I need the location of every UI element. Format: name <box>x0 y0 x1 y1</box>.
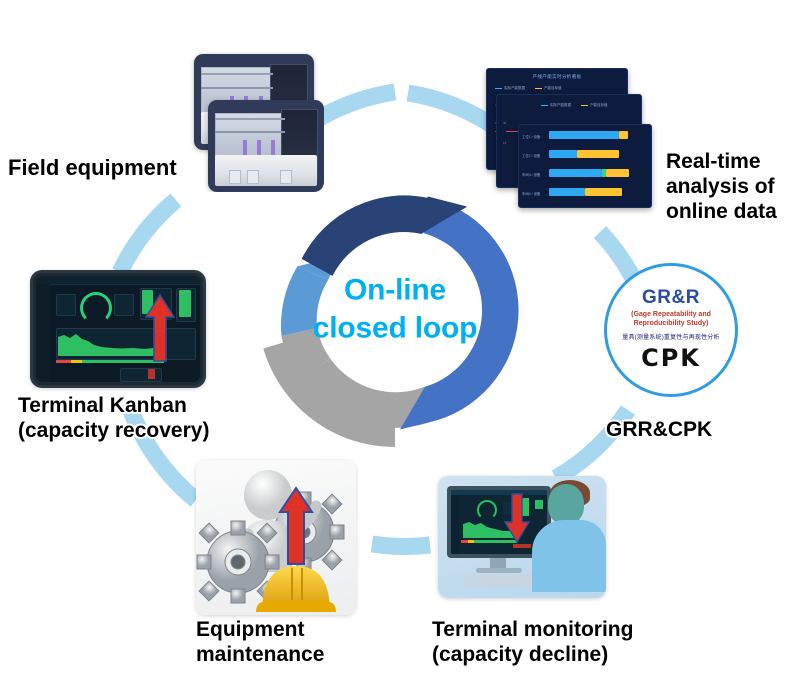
bar-legend-mid: 实际产能数据 <box>541 103 571 108</box>
label-line: Real-time <box>666 150 800 175</box>
diagram-canvas: On-line closed loop <box>0 0 800 684</box>
person-head <box>548 484 584 524</box>
arc-bottom <box>372 544 430 546</box>
label-field-equipment: Field equipment <box>8 155 177 181</box>
hard-hat-icon <box>256 566 336 612</box>
field-equipment-image[interactable] <box>184 52 324 192</box>
bar-row-label-2: 车间3 / 设备 <box>522 172 540 177</box>
label-line: Field equipment <box>8 155 177 181</box>
kanban-waveform <box>58 332 154 356</box>
label-line: Terminal Kanban <box>18 394 248 419</box>
bar-row-2 <box>549 169 643 177</box>
dashboard-panel-front: 工位1 / 设备 工位2 / 设备 车间3 / 设备 车间4 / 设备 <box>518 124 652 208</box>
label-line: Terminal monitoring <box>432 618 672 643</box>
label-equipment-maintenance: Equipment maintenance <box>196 618 376 668</box>
label-line: GRR&CPK <box>606 418 712 443</box>
machine-photo-front <box>208 100 324 192</box>
label-line: (capacity decline) <box>432 643 672 668</box>
line-legend-mid: 产能目标值 <box>581 103 608 108</box>
bar-row-0 <box>549 131 643 139</box>
label-line: maintenance <box>196 643 376 668</box>
cpk-title: CPK <box>641 344 701 372</box>
grr-cpk-card[interactable]: GR&R (Gage Repeatability and Reproducibi… <box>604 263 738 397</box>
center-label: On-line closed loop <box>290 272 500 349</box>
label-line: online data <box>666 200 800 225</box>
arc-left <box>120 200 176 272</box>
label-terminal-monitoring: Terminal monitoring (capacity decline) <box>432 618 672 668</box>
realtime-dashboard-image[interactable]: 产线产能实时分析看板 实际产能数据 产能目标值 40 20 实际产能数据 产能目… <box>474 68 660 218</box>
label-line: analysis of <box>666 175 800 200</box>
grr-title: GR&R <box>642 288 700 307</box>
gears-hardhat-figure <box>196 460 356 615</box>
grr-subtitle: (Gage Repeatability and Reproducibility … <box>625 311 717 329</box>
dashboard-title: 产线产能实时分析看板 <box>487 74 627 80</box>
grr-subtitle-line2: Reproducibility Study) <box>631 320 711 329</box>
person-body <box>532 520 606 592</box>
monitoring-down-arrow-icon <box>504 492 530 544</box>
bar-row-label-3: 车间4 / 设备 <box>522 191 540 196</box>
grr-chinese-text: 量具(测量系统)重复性与再现性分析 <box>622 332 719 341</box>
label-line: Equipment <box>196 618 376 643</box>
center-label-line1: On-line <box>290 272 500 310</box>
bar-row-3 <box>549 188 643 196</box>
arc-right <box>600 232 634 280</box>
center-label-line2: closed loop <box>290 310 500 348</box>
terminal-kanban-image[interactable] <box>30 270 206 388</box>
grr-subtitle-line1: (Gage Repeatability and <box>631 311 711 320</box>
terminal-monitoring-image[interactable] <box>438 476 606 598</box>
bar-legend: 实际产能数据 <box>495 86 525 91</box>
label-grr-cpk: GRR&CPK <box>606 418 712 443</box>
bar-row-label-1: 工位2 / 设备 <box>522 153 540 158</box>
label-terminal-kanban: Terminal Kanban (capacity recovery) <box>18 394 248 444</box>
bar-row-label-0: 工位1 / 设备 <box>522 134 540 139</box>
equipment-maintenance-image[interactable] <box>196 460 356 615</box>
kanban-up-arrow-icon <box>145 293 175 363</box>
ring-segment-field-equipment <box>302 195 430 275</box>
label-line: (capacity recovery) <box>18 419 248 444</box>
label-realtime-analysis: Real-time analysis of online data <box>666 150 800 224</box>
line-legend: 产能目标值 <box>535 86 562 91</box>
bar-row-1 <box>549 150 643 158</box>
